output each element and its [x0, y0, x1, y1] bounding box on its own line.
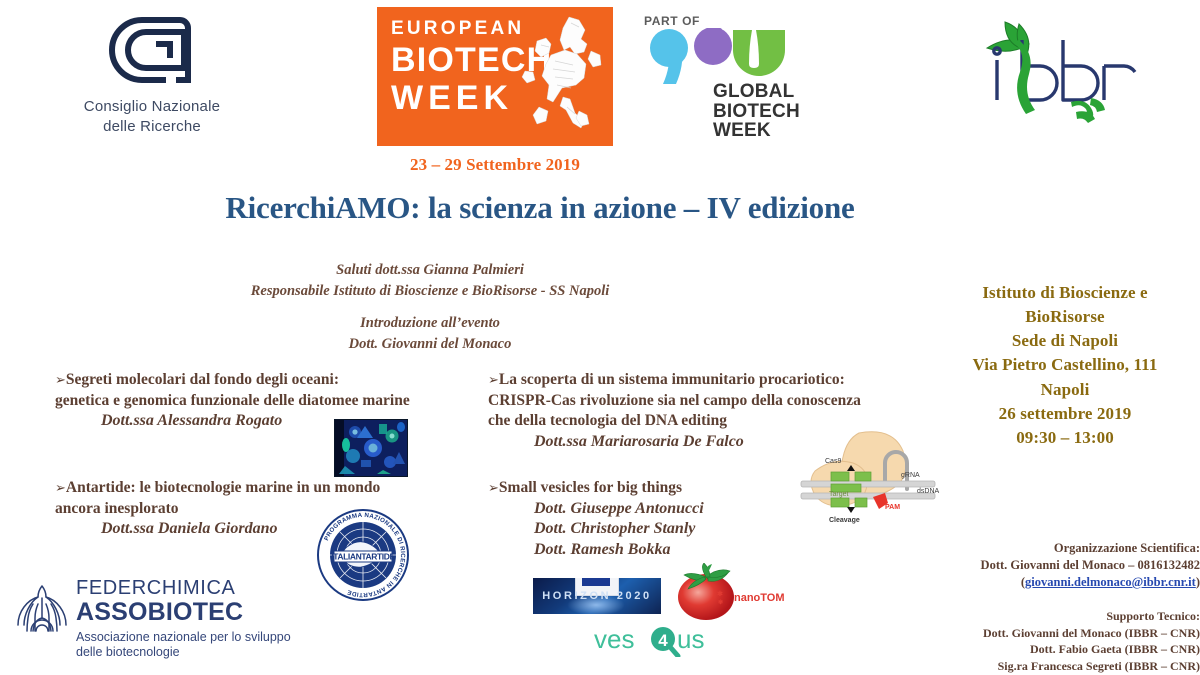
- ibbr-leaf-dna-icon: [975, 8, 1165, 133]
- ebw-line2: BIOTECH: [391, 43, 521, 79]
- bullet-arrow-icon: ➢: [488, 373, 499, 388]
- federchimica-line3: Associazione nazionale per lo sviluppo: [76, 630, 291, 646]
- page-title: RicerchiAMO: la scienza in azione – IV e…: [120, 190, 960, 226]
- crispr-label-grna: gRNA: [901, 472, 920, 479]
- organization-block: Organizzazione Scientifica: Dott. Giovan…: [900, 540, 1200, 591]
- talk-1-title: ➢Segreti molecolari dal fondo degli ocea…: [55, 370, 455, 411]
- eu-flag-field: [582, 578, 610, 586]
- organization-contact: Dott. Giovanni del Monaco – 0816132482: [900, 557, 1200, 574]
- talk-4-title: ➢Small vesicles for big things: [488, 478, 818, 499]
- ves4us-part1: ves: [594, 625, 634, 654]
- nanotom-wordmark: nanoTOM: [734, 592, 785, 604]
- venue-city: Napoli: [930, 378, 1200, 402]
- ebw-line3: WEEK: [391, 81, 521, 117]
- cnr-caption-line2: delle Ricerche: [52, 117, 252, 137]
- nanotom-logo: nanoTOM ✱ ✾: [668, 563, 788, 621]
- pnra-italiantartide-seal-icon: ITALIANTARTIDE PROGRAMMA NAZIONALE DI RI…: [315, 507, 411, 603]
- event-week-date: 23 – 29 Settembre 2019: [377, 155, 613, 175]
- greetings-block: Saluti dott.ssa Gianna Palmieri Responsa…: [120, 260, 740, 302]
- federchimica-line1: FEDERCHIMICA: [76, 578, 291, 599]
- svg-text:ITALIANTARTIDE: ITALIANTARTIDE: [331, 552, 395, 562]
- greetings-line1: Saluti dott.ssa Gianna Palmieri: [120, 260, 740, 281]
- venue-block: Istituto di Bioscienze e BioRisorse Sede…: [930, 281, 1200, 450]
- cnr-caption: Consiglio Nazionale delle Ricerche: [52, 97, 252, 137]
- federchimica-line2: ASSOBIOTEC: [76, 599, 291, 626]
- crispr-label-dsdna: dsDNA: [917, 488, 940, 495]
- crispr-label-pam: PAM: [885, 504, 900, 511]
- european-biotech-week-logo: EUROPEAN BIOTECH WEEK: [377, 7, 613, 146]
- talk-3-title-line2: CRISPR-Cas rivoluzione sia nel campo del…: [488, 391, 908, 412]
- talk-1-title-line1: Segreti molecolari dal fondo degli ocean…: [66, 371, 339, 388]
- ves4us-wordmark-icon: ves us 4: [594, 625, 718, 657]
- gbw-part-of-label: PART OF: [644, 14, 700, 28]
- talk-4-speaker-2: Dott. Christopher Stanly: [488, 519, 818, 540]
- europe-map-icon: [507, 11, 611, 143]
- crispr-cas9-diagram-icon: Cas9 gRNA dsDNA Target PAM Cleavage: [797, 427, 945, 527]
- ebw-wordmark: EUROPEAN BIOTECH WEEK: [391, 19, 521, 116]
- talk-3-title: ➢La scoperta di un sistema immunitario p…: [488, 370, 908, 432]
- bullet-arrow-icon: ➢: [488, 481, 499, 496]
- support-person-2: Dott. Fabio Gaeta (IBBR – CNR): [900, 641, 1200, 658]
- cnr-spiral-icon: [106, 14, 198, 88]
- cnr-logo: Consiglio Nazionale delle Ricerche: [52, 14, 252, 137]
- organization-email-link[interactable]: giovanni.delmonaco@ibbr.cnr.it: [1025, 575, 1196, 589]
- gbw-line1: GLOBAL: [713, 82, 800, 102]
- federchimica-line4: delle biotecnologie: [76, 645, 291, 661]
- svg-text:✱: ✱: [717, 590, 723, 598]
- federchimica-wordmark: FEDERCHIMICA ASSOBIOTEC Associazione naz…: [76, 578, 291, 661]
- venue-date: 26 settembre 2019: [930, 402, 1200, 426]
- greetings-line2: Responsabile Istituto di Bioscienze e Bi…: [120, 281, 740, 302]
- crispr-label-cleavage: Cleavage: [829, 517, 860, 524]
- ves4us-logo: ves us 4: [594, 625, 718, 657]
- crispr-label-target: Target: [829, 491, 849, 498]
- gbw-96-icon: [641, 28, 787, 86]
- gbw-line2: BIOTECH: [713, 102, 800, 122]
- federchimica-tagline: Associazione nazionale per lo sviluppo d…: [76, 630, 291, 661]
- talk-item-4: ➢Small vesicles for big things Dott. Giu…: [488, 478, 818, 561]
- tomato-icon: nanoTOM ✱ ✾: [668, 563, 788, 621]
- organization-email-row: (giovanni.delmonaco@ibbr.cnr.it): [900, 574, 1200, 591]
- gbw-line3: WEEK: [713, 121, 800, 141]
- venue-line2: BioRisorse: [930, 305, 1200, 329]
- support-person-3: Sig.ra Francesca Segreti (IBBR – CNR): [900, 658, 1200, 675]
- svg-text:✾: ✾: [718, 599, 723, 606]
- horizon-2020-wordmark: HORIZON 2020: [533, 590, 661, 602]
- talk-3-title-line1: La scoperta di un sistema immunitario pr…: [499, 371, 845, 388]
- support-block: Supporto Tecnico: Dott. Giovanni del Mon…: [900, 608, 1200, 674]
- cnr-caption-line1: Consiglio Nazionale: [52, 97, 252, 117]
- support-person-1: Dott. Giovanni del Monaco (IBBR – CNR): [900, 625, 1200, 642]
- gbw-wordmark: GLOBAL BIOTECH WEEK: [713, 82, 800, 141]
- ebw-line1: EUROPEAN: [391, 19, 521, 38]
- bullet-arrow-icon: ➢: [55, 373, 66, 388]
- venue-time: 09:30 – 13:00: [930, 426, 1200, 450]
- global-biotech-week-logo: PART OF GLOBAL BIOTECH WEEK: [637, 10, 787, 140]
- introduction-block: Introduzione all’evento Dott. Giovanni d…: [120, 313, 740, 355]
- organization-heading: Organizzazione Scientifica:: [900, 540, 1200, 557]
- support-heading: Supporto Tecnico:: [900, 608, 1200, 625]
- crispr-label-cas9: Cas9: [825, 458, 841, 465]
- talk-4-speaker-3: Dott. Ramesh Bokka: [488, 540, 818, 561]
- horizon-2020-logo: HORIZON 2020: [533, 578, 661, 614]
- venue-line1: Istituto di Bioscienze e: [930, 281, 1200, 305]
- ves4us-part2: 4: [658, 631, 668, 650]
- bullet-arrow-icon: ➢: [55, 481, 66, 496]
- email-paren-close: ): [1196, 575, 1200, 589]
- venue-address: Via Pietro Castellino, 111: [930, 353, 1200, 377]
- diatoms-micrograph-image: [334, 419, 408, 477]
- federchimica-eagle-icon: [14, 580, 70, 636]
- introduction-line2: Dott. Giovanni del Monaco: [120, 334, 740, 355]
- talk-4-title-line1: Small vesicles for big things: [499, 479, 682, 496]
- ves4us-part3: us: [677, 625, 704, 654]
- talk-4-speaker-1: Dott. Giuseppe Antonucci: [488, 499, 818, 520]
- talk-2-title-line1: Antartide: le biotecnologie marine in un…: [66, 479, 380, 496]
- talk-1-title-line2: genetica e genomica funzionale delle dia…: [55, 391, 455, 412]
- ibbr-logo: [975, 8, 1165, 133]
- introduction-line1: Introduzione all’evento: [120, 313, 740, 334]
- venue-line3: Sede di Napoli: [930, 329, 1200, 353]
